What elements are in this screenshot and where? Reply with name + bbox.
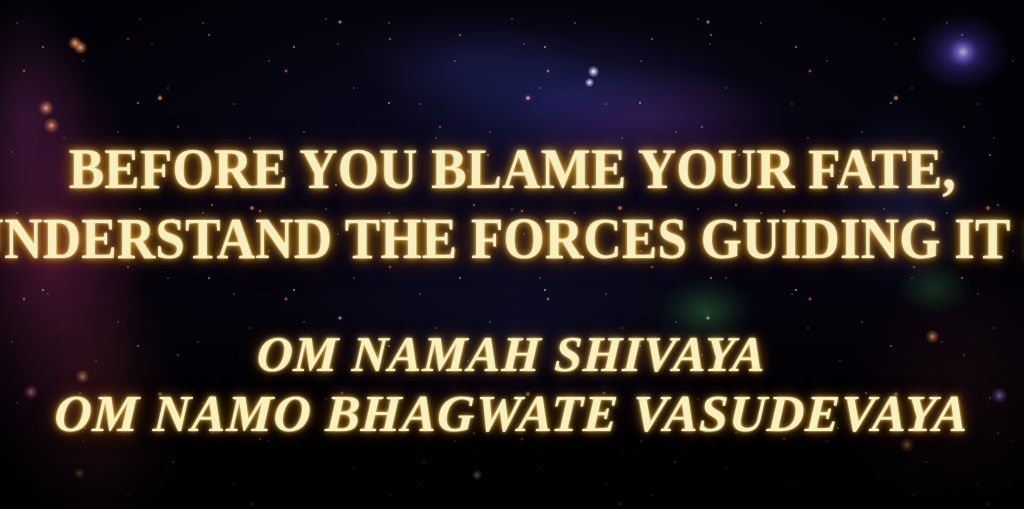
mantra-line-2: OM NAMO BHAGWATE VASUDEVAYA — [54, 387, 971, 442]
quote-banner: BEFORE YOU BLAME YOUR FATE, UNDERSTAND T… — [0, 0, 1024, 509]
text-content: BEFORE YOU BLAME YOUR FATE, UNDERSTAND T… — [0, 0, 1024, 509]
headline-line-1: BEFORE YOU BLAME YOUR FATE, — [0, 141, 1024, 198]
headline-block: BEFORE YOU BLAME YOUR FATE, UNDERSTAND T… — [0, 141, 1024, 268]
headline-line-2: UNDERSTAND THE FORCES GUIDING IT !! — [0, 210, 1024, 268]
mantra-block: OM NAMAH SHIVAYA OM NAMO BHAGWATE VASUDE… — [50, 328, 973, 442]
mantra-line-1: OM NAMAH SHIVAYA — [54, 328, 971, 381]
